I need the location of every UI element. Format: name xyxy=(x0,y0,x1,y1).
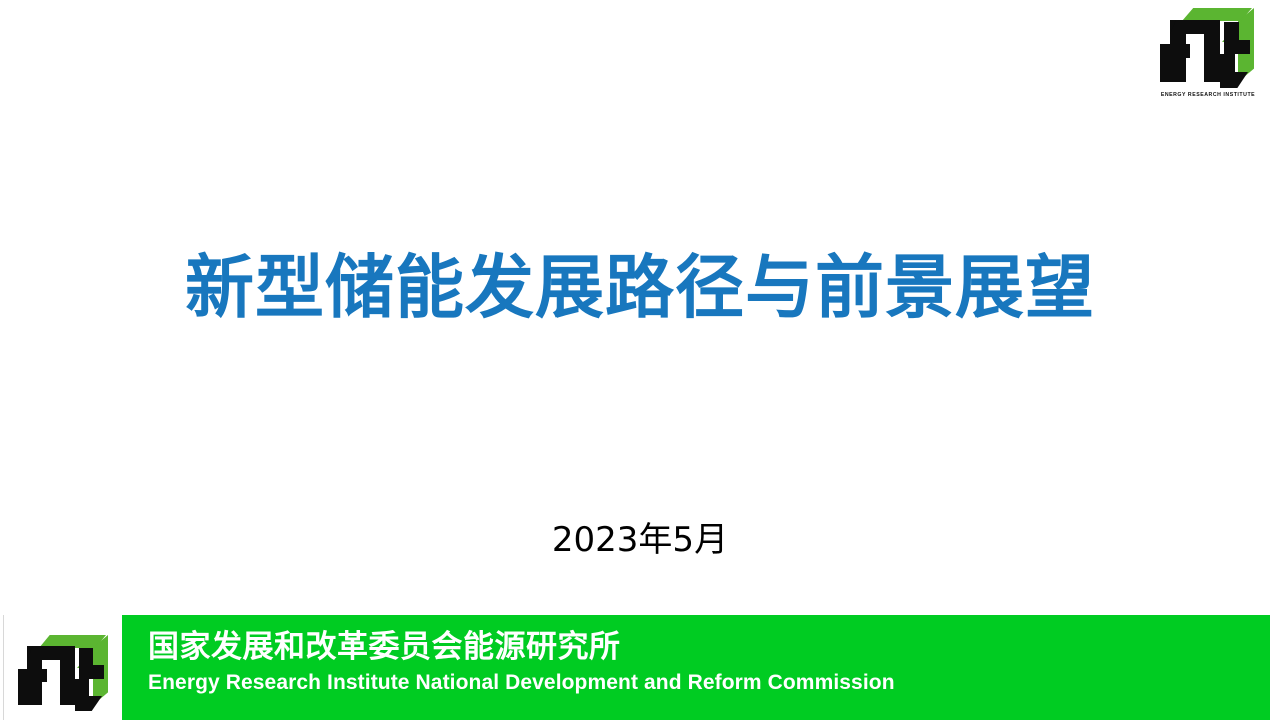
logo-glyph-stroke-10 xyxy=(1220,72,1248,88)
corner-logo: ENERGY RESEARCH INSTITUTE xyxy=(1154,6,1262,112)
logo-glyph-stroke-10 xyxy=(75,696,102,711)
logo-glyph-stroke-6 xyxy=(1160,62,1184,74)
page-title: 新型储能发展路径与前景展望 xyxy=(185,252,1095,324)
title-block: 新型储能发展路径与前景展望 xyxy=(0,252,1280,324)
presentation-date: 2023年5月 xyxy=(552,522,728,559)
logo-glyph-stroke-8 xyxy=(1224,40,1250,54)
presentation-title-slide: ENERGY RESEARCH INSTITUTE 新型储能发展路径与前景展望 … xyxy=(0,0,1280,720)
eri-logo-mark xyxy=(1160,6,1256,88)
footer-green-bar: 国家发展和改革委员会能源研究所 Energy Research Institut… xyxy=(122,615,1270,720)
date-block: 2023年5月 xyxy=(0,522,1280,559)
eri-logo-mark-footer xyxy=(18,633,110,711)
logo-glyph-stroke-3 xyxy=(1204,20,1220,82)
footer-organization-cn: 国家发展和改革委员会能源研究所 xyxy=(148,630,895,665)
footer-text-group: 国家发展和改革委员会能源研究所 Energy Research Institut… xyxy=(148,630,895,695)
corner-logo-caption: ENERGY RESEARCH INSTITUTE xyxy=(1154,92,1262,98)
footer-organization-en: Energy Research Institute National Devel… xyxy=(148,670,895,695)
logo-glyph-stroke-6 xyxy=(18,686,41,698)
footer: 国家发展和改革委员会能源研究所 Energy Research Institut… xyxy=(0,615,1280,720)
logo-glyph-stroke-3 xyxy=(60,646,75,705)
footer-logo-box xyxy=(3,615,120,720)
logo-glyph-stroke-8 xyxy=(79,665,104,679)
